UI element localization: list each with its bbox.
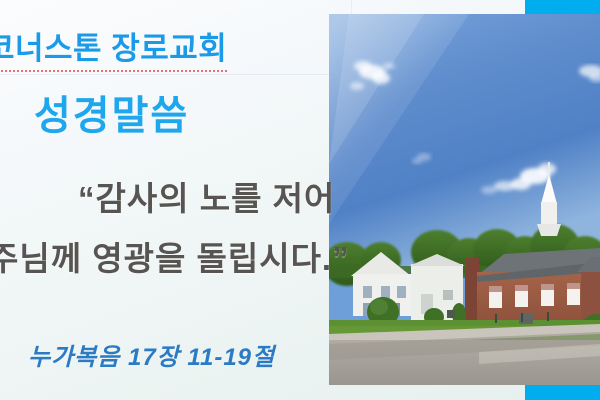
divider-line-top	[0, 74, 352, 75]
quote-line-1: “감사의 노를 저어	[78, 178, 335, 219]
sermon-label-heading: 성경말씀	[34, 92, 189, 140]
accent-bar-top-right	[525, 0, 600, 15]
accent-bar-bottom-right	[525, 385, 600, 400]
church-name-heading: 코너스톤 장로교회	[0, 30, 227, 72]
quote-line-2: 주님께 영광을 돌립시다.”	[0, 238, 350, 279]
scripture-reference: 누가복음 17장 11-19절	[28, 337, 275, 372]
sermon-announcement-slide: 코너스톤 장로교회 성경말씀 “감사의 노를 저어 주님께 영광을 돌립시다.”…	[0, 0, 600, 400]
church-building-photo	[329, 14, 600, 385]
